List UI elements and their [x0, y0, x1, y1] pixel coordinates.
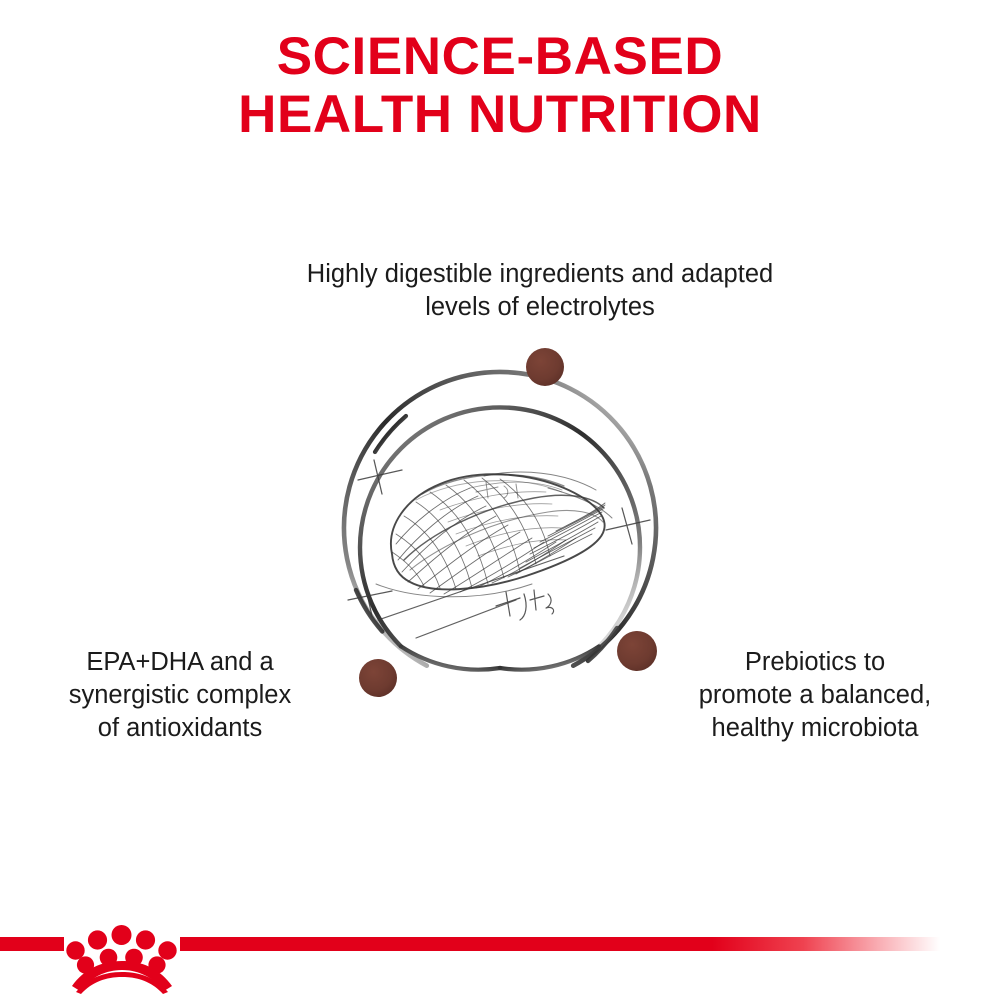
- kibble-sketch-icon: [348, 460, 650, 638]
- feature-dot-bottom-right[interactable]: [617, 631, 657, 671]
- footer-bar-left-segment: [0, 937, 64, 951]
- page-title: SCIENCE-BASED HEALTH NUTRITION: [0, 28, 1000, 144]
- feature-caption-epa-dha-line-1: EPA+DHA and a: [20, 646, 340, 679]
- feature-caption-digestibility-line-2: levels of electrolytes: [200, 291, 880, 324]
- feature-caption-prebiotics-line-3: healthy microbiota: [655, 712, 975, 745]
- feature-dot-top[interactable]: [526, 348, 564, 386]
- kibble-circle-diagram: [320, 348, 680, 708]
- crown-icon: [66, 925, 176, 994]
- feature-caption-epa-dha: EPA+DHA and a synergistic complex of ant…: [20, 646, 340, 745]
- royal-canin-crown-logo: [62, 912, 182, 994]
- feature-caption-digestibility: Highly digestible ingredients and adapte…: [200, 258, 880, 324]
- page-title-line-2: HEALTH NUTRITION: [0, 86, 1000, 144]
- feature-caption-prebiotics-line-2: promote a balanced,: [655, 679, 975, 712]
- feature-caption-epa-dha-line-3: of antioxidants: [20, 712, 340, 745]
- outer-ring-arc: [344, 372, 656, 666]
- feature-caption-prebiotics-line-1: Prebiotics to: [655, 646, 975, 679]
- feature-dot-bottom-left[interactable]: [359, 659, 397, 697]
- feature-caption-digestibility-line-1: Highly digestible ingredients and adapte…: [200, 258, 880, 291]
- feature-caption-prebiotics: Prebiotics to promote a balanced, health…: [655, 646, 975, 745]
- feature-caption-epa-dha-line-2: synergistic complex: [20, 679, 340, 712]
- page-title-line-1: SCIENCE-BASED: [0, 28, 1000, 86]
- inner-ring-arc: [360, 407, 640, 669]
- poster-canvas: SCIENCE-BASED HEALTH NUTRITION Highly di…: [0, 0, 1000, 1000]
- footer-bar-right-segment: [180, 937, 940, 951]
